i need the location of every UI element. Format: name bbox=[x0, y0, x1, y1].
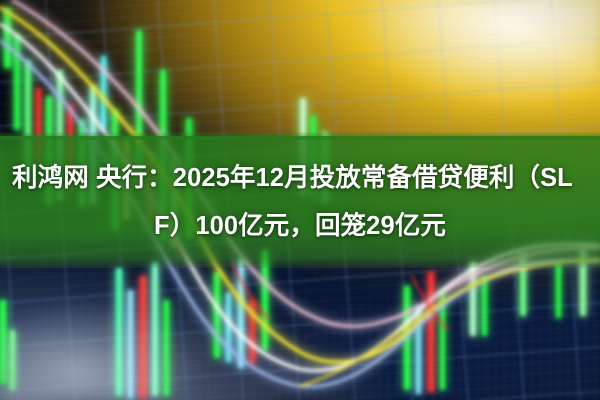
headline-line-2: F）100亿元，回笼29亿元 bbox=[154, 204, 446, 248]
news-banner: 利鸿网 央行：2025年12月投放常备借贷便利（SL F）100亿元，回笼29亿… bbox=[0, 0, 600, 400]
headline-line-1: 利鸿网 央行：2025年12月投放常备借贷便利（SL bbox=[0, 156, 600, 200]
headline-text: 利鸿网 央行：2025年12月投放常备借贷便利（SL F）100亿元，回笼29亿… bbox=[0, 136, 600, 268]
